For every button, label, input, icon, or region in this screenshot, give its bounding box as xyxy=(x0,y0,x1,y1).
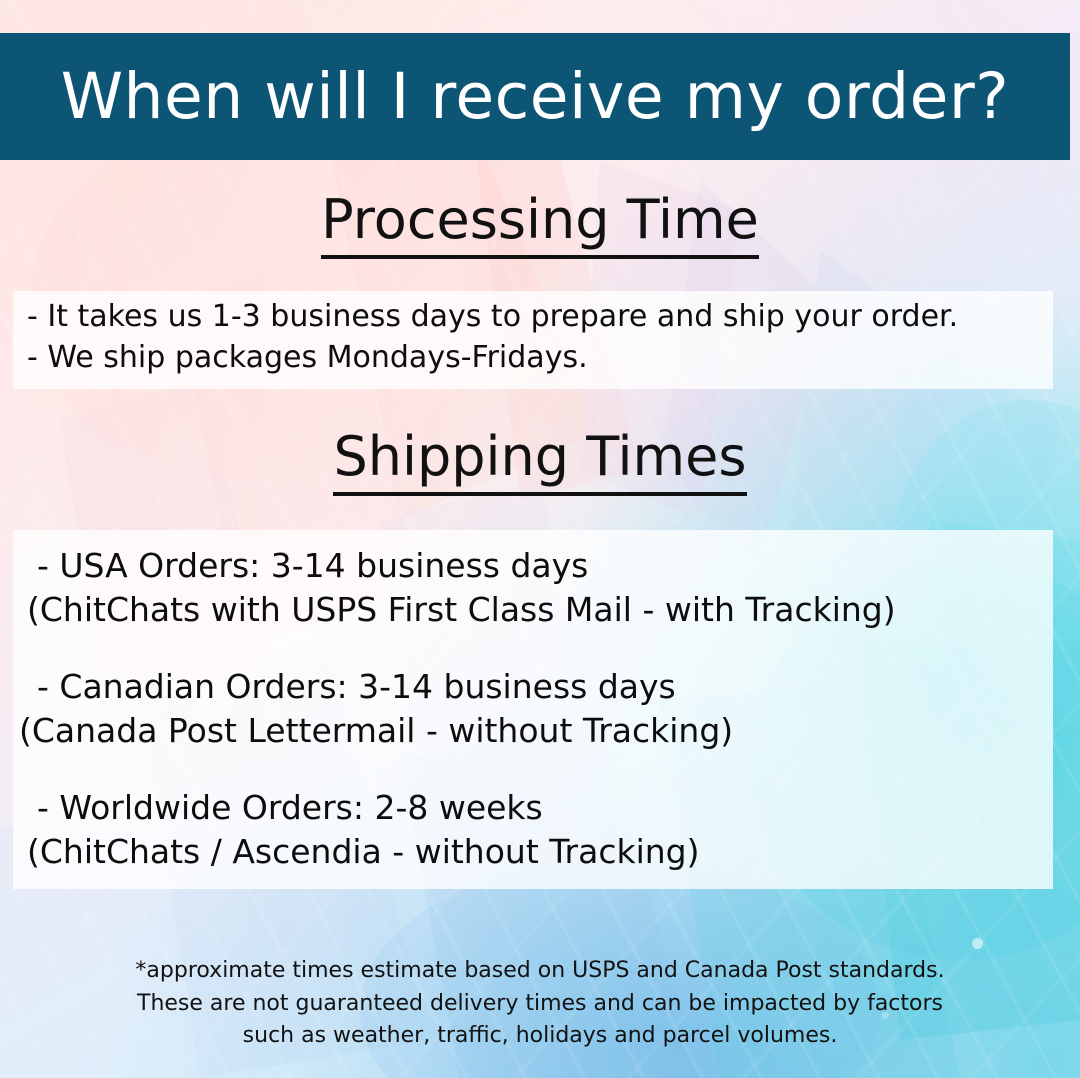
footnote-line-2: These are not guaranteed delivery times … xyxy=(0,988,1080,1021)
shipping-worldwide-duration: - Worldwide Orders: 2-8 weeks xyxy=(13,786,1053,830)
shipping-times-heading: Shipping Times xyxy=(0,429,1080,486)
header-banner: When will I receive my order? xyxy=(0,33,1070,160)
shipping-group-canada: - Canadian Orders: 3-14 business days (C… xyxy=(13,665,1053,752)
shipping-worldwide-carrier: (ChitChats / Ascendia - without Tracking… xyxy=(13,830,1053,874)
processing-line-2: - We ship packages Mondays-Fridays. xyxy=(13,338,1053,379)
shipping-group-usa: - USA Orders: 3-14 business days (ChitCh… xyxy=(13,544,1053,631)
shipping-canada-duration: - Canadian Orders: 3-14 business days xyxy=(13,665,1053,709)
processing-time-panel: - It takes us 1-3 business days to prepa… xyxy=(13,291,1053,389)
footnote-disclaimer: *approximate times estimate based on USP… xyxy=(0,955,1080,1053)
shipping-times-panel: - USA Orders: 3-14 business days (ChitCh… xyxy=(13,530,1053,889)
background-bokeh-dot xyxy=(972,938,983,949)
processing-time-heading: Processing Time xyxy=(0,192,1080,249)
processing-line-1: - It takes us 1-3 business days to prepa… xyxy=(13,297,1053,338)
processing-time-heading-text: Processing Time xyxy=(321,188,759,259)
shipping-group-worldwide: - Worldwide Orders: 2-8 weeks (ChitChats… xyxy=(13,786,1053,873)
footnote-line-1: *approximate times estimate based on USP… xyxy=(0,955,1080,988)
banner-title: When will I receive my order? xyxy=(61,65,1009,128)
shipping-usa-carrier: (ChitChats with USPS First Class Mail - … xyxy=(13,588,1053,632)
footnote-line-3: such as weather, traffic, holidays and p… xyxy=(0,1020,1080,1053)
shipping-times-heading-text: Shipping Times xyxy=(333,425,746,496)
shipping-canada-carrier: (Canada Post Lettermail - without Tracki… xyxy=(13,709,1053,753)
shipping-info-poster: When will I receive my order? Processing… xyxy=(0,0,1080,1078)
shipping-usa-duration: - USA Orders: 3-14 business days xyxy=(13,544,1053,588)
